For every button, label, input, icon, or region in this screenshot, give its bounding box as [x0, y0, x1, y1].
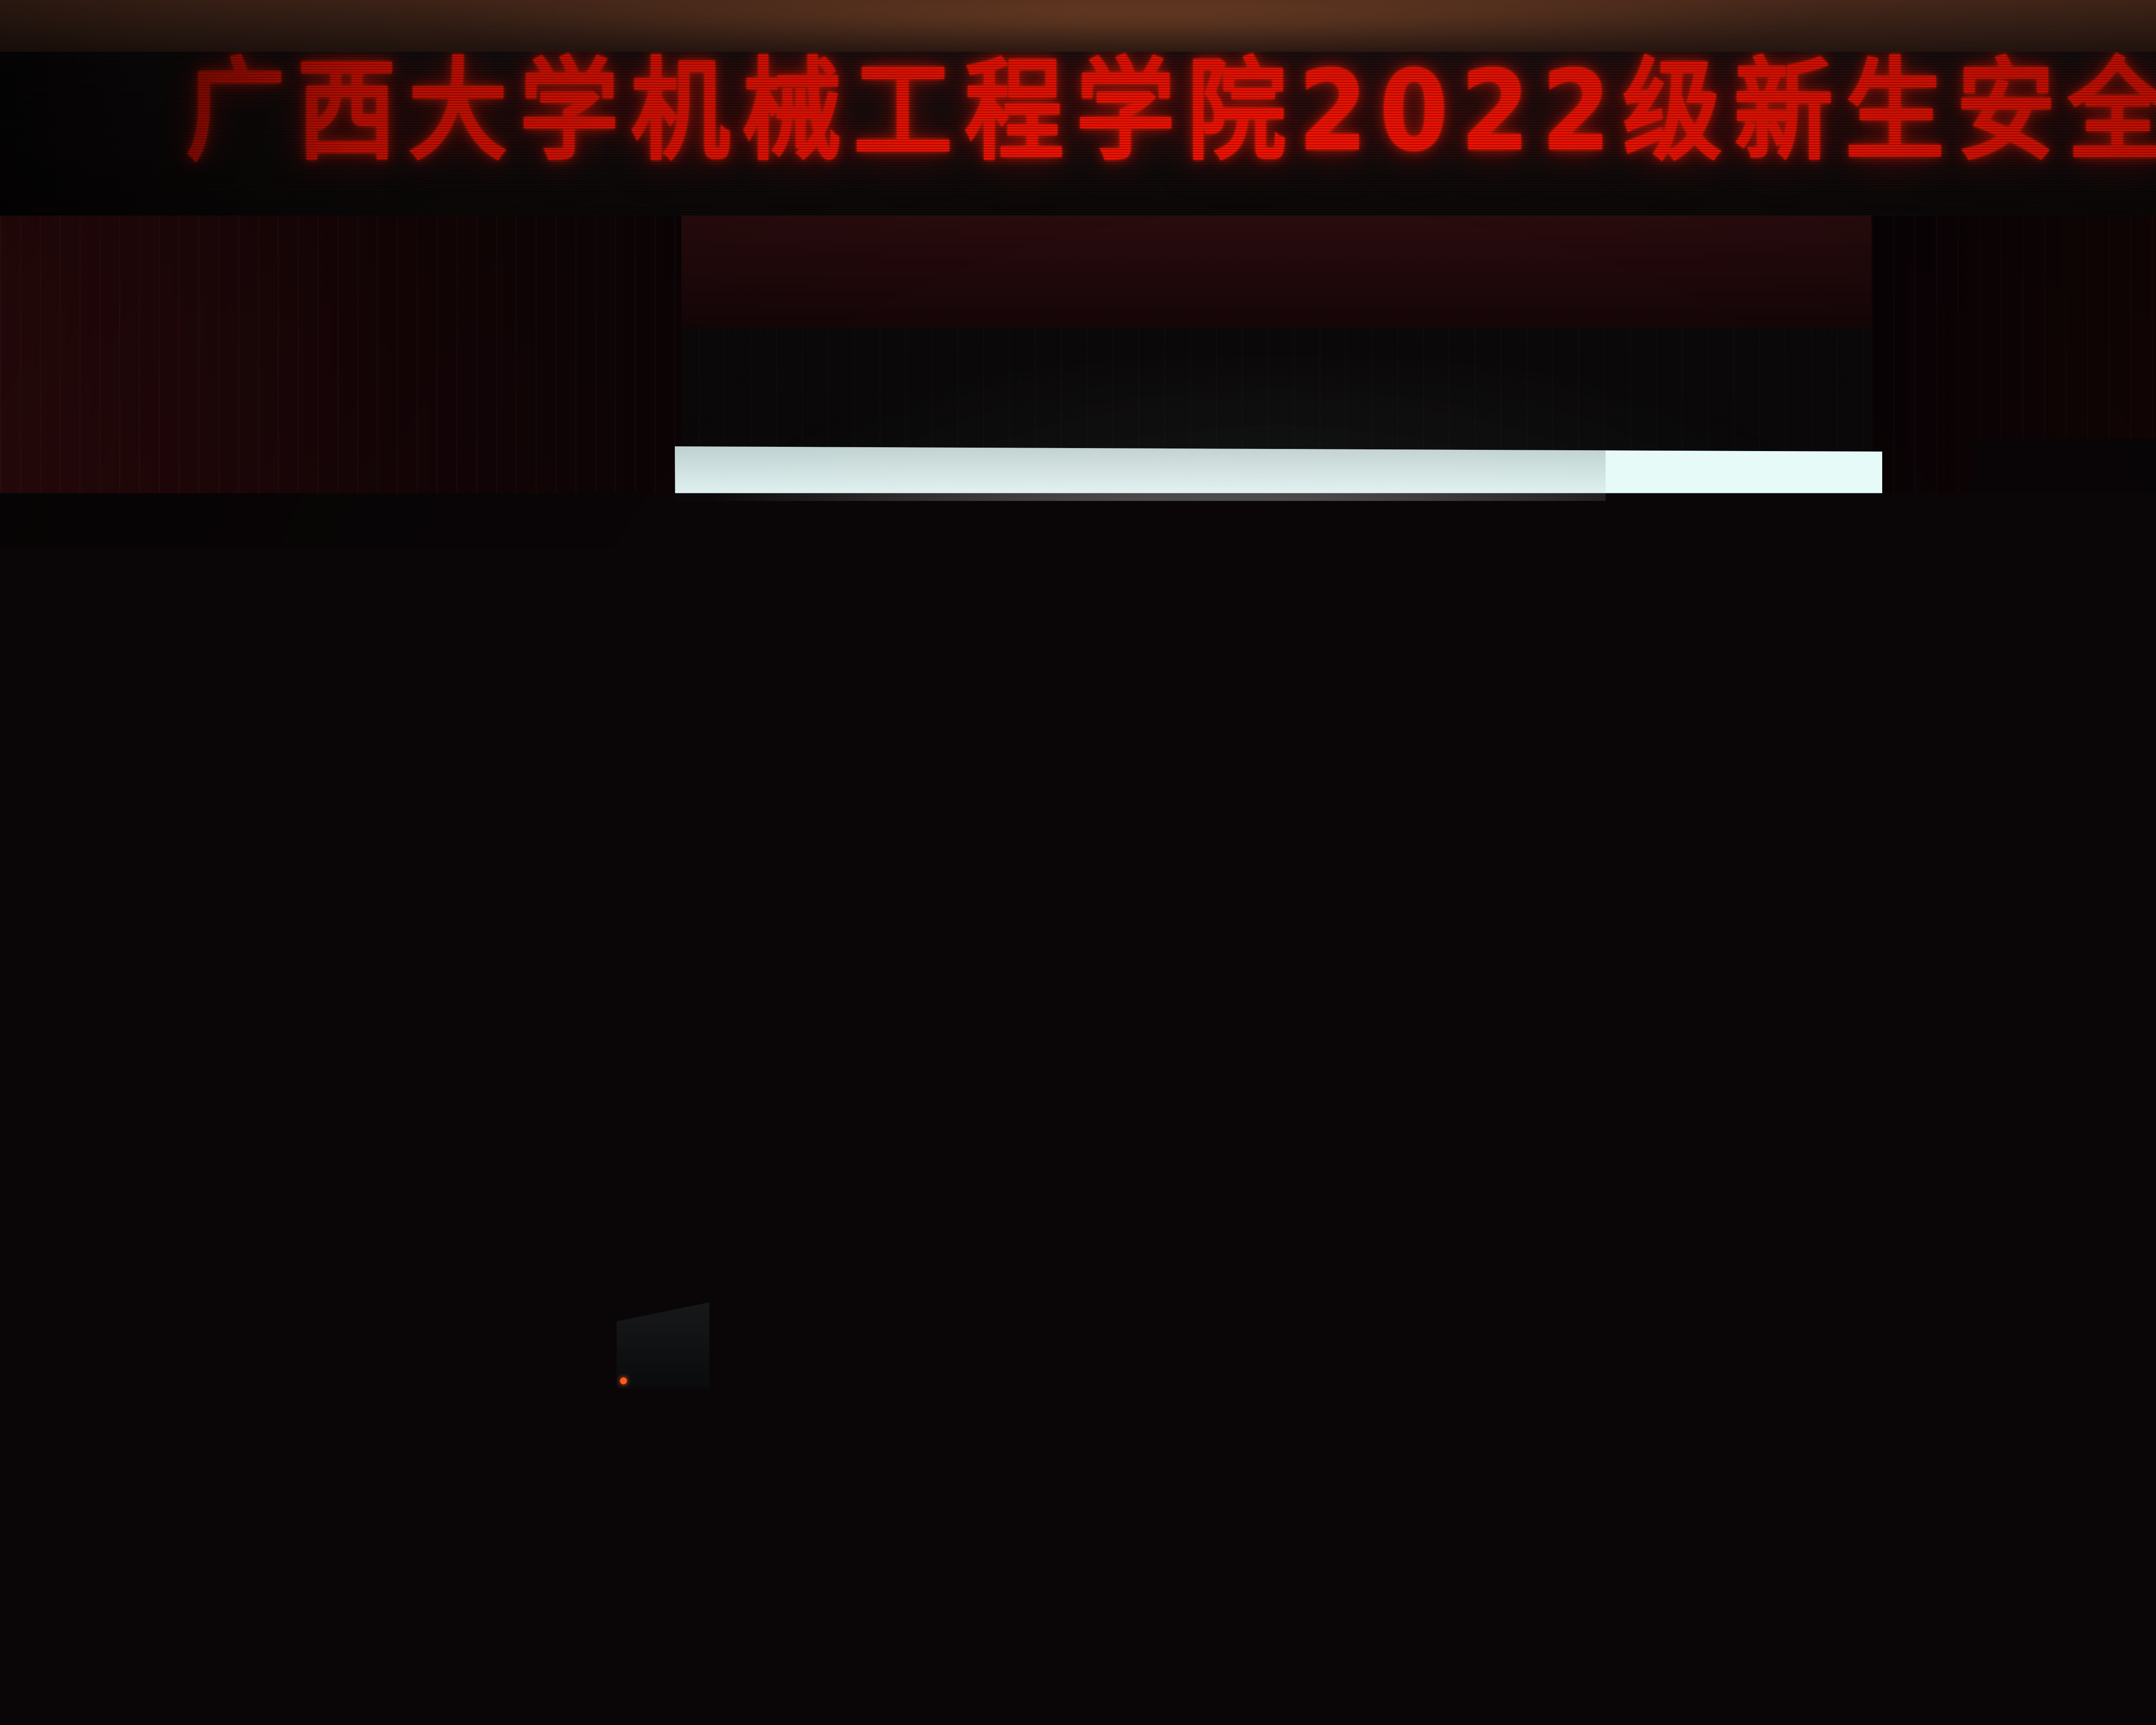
- auditorium-seat: 13: [221, 1483, 350, 1548]
- seat-number: 20: [1344, 1539, 1473, 1546]
- auditorium-seat: 24: [1480, 1630, 1657, 1719]
- seat-number: 23: [1503, 1613, 1654, 1623]
- seat-number: 22: [1664, 1539, 1794, 1546]
- audience-member-head: [1235, 1458, 1261, 1478]
- slide-title: 2022级新生安全教育: [675, 629, 1882, 714]
- auditorium-seat: 16: [199, 1550, 350, 1626]
- stage-floor-screen-reflection: [647, 1317, 1940, 1408]
- audience-member-head: [2037, 1458, 2063, 1478]
- auditorium-seat: 25: [1698, 1630, 1875, 1719]
- seat-number: 22: [1044, 1703, 1220, 1716]
- speaker-power-led-icon: [620, 1377, 627, 1384]
- auditorium-seat: 19: [758, 1550, 909, 1626]
- auditorium-seat: 12: [60, 1483, 190, 1548]
- seat-number: 21: [1131, 1613, 1282, 1623]
- auditorium-seat: 23: [1825, 1483, 1954, 1548]
- seat-number: 18: [1023, 1539, 1152, 1546]
- audience-member-head: [1716, 1458, 1742, 1478]
- auditorium-seat: 16: [702, 1483, 831, 1548]
- seat-number: 22: [1317, 1613, 1468, 1623]
- seat-number: 15: [13, 1613, 164, 1623]
- projection-screen: 2022级新生安全教育 机械工程学院党委副书记 黄路明 2022年9月21日: [675, 446, 1882, 1317]
- auditorium-seat: 21: [825, 1630, 1002, 1719]
- auditorium-seat: 13: [2146, 1483, 2156, 1548]
- seat-number: 21: [1504, 1539, 1633, 1546]
- auditorium-seat: 23: [1503, 1550, 1654, 1626]
- seat-number: 14: [381, 1539, 511, 1546]
- seat-number: 18: [171, 1703, 348, 1716]
- seat-number: 25: [1698, 1703, 1875, 1716]
- led-banner-text: 广西大学机械工程学院2022级新生安全教育: [0, 56, 2156, 167]
- seat-number: 21: [825, 1703, 1002, 1716]
- auditorium-seat: 14: [381, 1483, 511, 1548]
- seat-number: 26: [2062, 1613, 2156, 1623]
- audience-member-head: [593, 1458, 620, 1478]
- auditorium-seat: 27: [2134, 1630, 2156, 1719]
- seat-number: 24: [1480, 1703, 1657, 1716]
- seat-number: 27: [2134, 1703, 2156, 1716]
- slide-presenter-line: 机械工程学院党委副书记 黄路明: [675, 765, 1882, 828]
- auditorium-seat: 18: [171, 1630, 348, 1719]
- auditorium-seat: 12: [1985, 1483, 2115, 1548]
- seat-number: 23: [1262, 1703, 1438, 1716]
- audience-seating: 12广西大学机械工程学院1314151617181920广西大学机械工程学院21…: [0, 1458, 2156, 1725]
- auditorium-seat: 24: [1689, 1550, 1840, 1626]
- seat-number: 15: [542, 1539, 671, 1546]
- seat-number: 25: [1876, 1613, 2027, 1623]
- podium-university-name: 广西大学: [385, 1197, 514, 1220]
- auditorium-seat: 20: [1344, 1483, 1473, 1548]
- auditorium-photo: 广西大学机械工程学院2022级新生安全教育: [0, 0, 2156, 1725]
- stage-curtain-right: [1871, 216, 2156, 1380]
- seat-number: 24: [1689, 1613, 1840, 1623]
- auditorium-seat: 20: [944, 1550, 1095, 1626]
- auditorium-seat: 22: [1317, 1550, 1468, 1626]
- auditorium-seat: 17: [862, 1483, 992, 1548]
- auditorium-seat: 22: [1044, 1630, 1220, 1719]
- led-banner: 广西大学机械工程学院2022级新生安全教育: [0, 52, 2156, 233]
- face-mask-icon: [133, 1460, 150, 1471]
- ceiling-glow: [388, 0, 1854, 52]
- seat-number: 19: [758, 1613, 909, 1623]
- auditorium-seat: 15: [542, 1483, 671, 1548]
- seat-number: 23: [1825, 1539, 1954, 1546]
- auditorium-seat: 17: [385, 1550, 536, 1626]
- speaker-head: [454, 1135, 482, 1168]
- speaker-power-led-icon: [1861, 1374, 1868, 1381]
- floor-highlight-streak: [949, 1382, 1725, 1383]
- auditorium-seat: 17: [0, 1630, 129, 1719]
- audience-member-head: [1074, 1458, 1101, 1478]
- seat-number: 19: [389, 1703, 566, 1716]
- auditorium-seat: 19: [1183, 1483, 1313, 1548]
- seat-number: 12: [60, 1539, 190, 1546]
- auditorium-seat: 25: [1876, 1550, 2027, 1626]
- slide-date: 2022年9月21日: [675, 837, 1882, 893]
- seat-number: 13: [221, 1539, 350, 1546]
- seat-number: 17: [862, 1539, 992, 1546]
- seat-number: 12: [1985, 1539, 2115, 1546]
- auditorium-seat: 20: [607, 1630, 784, 1719]
- auditorium-seat: 21: [1504, 1483, 1633, 1548]
- auditorium-seat: 15: [13, 1550, 164, 1626]
- auditorium-seat: 26: [2062, 1550, 2156, 1626]
- seat-number: 16: [702, 1539, 831, 1546]
- seat-number: 16: [199, 1613, 350, 1623]
- seat-number: 17: [385, 1613, 536, 1623]
- seat-number: 20: [944, 1613, 1095, 1623]
- stage-monitor-speaker: [2104, 1320, 2156, 1391]
- auditorium-seat: 26: [1916, 1630, 2093, 1719]
- audience-member-head: [753, 1458, 780, 1478]
- stage-monitor-speaker: [123, 1324, 209, 1389]
- podium-with-speaker: 广西大学: [379, 1108, 561, 1333]
- seat-number: 20: [607, 1703, 784, 1716]
- auditorium-seat: 23: [1262, 1630, 1438, 1719]
- auditorium-seat: 19: [389, 1630, 566, 1719]
- seat-number: 19: [1183, 1539, 1313, 1546]
- stage-curtain-left: [0, 216, 681, 1380]
- auditorium-seat: 22: [1664, 1483, 1794, 1548]
- seat-number: 13: [2146, 1539, 2156, 1546]
- floor-highlight-streak: [733, 1358, 1337, 1360]
- seat-number: 17: [0, 1703, 129, 1716]
- auditorium-seat: 21: [1131, 1550, 1282, 1626]
- audience-member-head: [272, 1458, 299, 1478]
- seat-number: 26: [1916, 1703, 2093, 1716]
- seat-number: 18: [572, 1613, 723, 1623]
- face-mask-icon: [1577, 1460, 1593, 1471]
- auditorium-seat: 18: [572, 1550, 723, 1626]
- auditorium-seat: 18: [1023, 1483, 1152, 1548]
